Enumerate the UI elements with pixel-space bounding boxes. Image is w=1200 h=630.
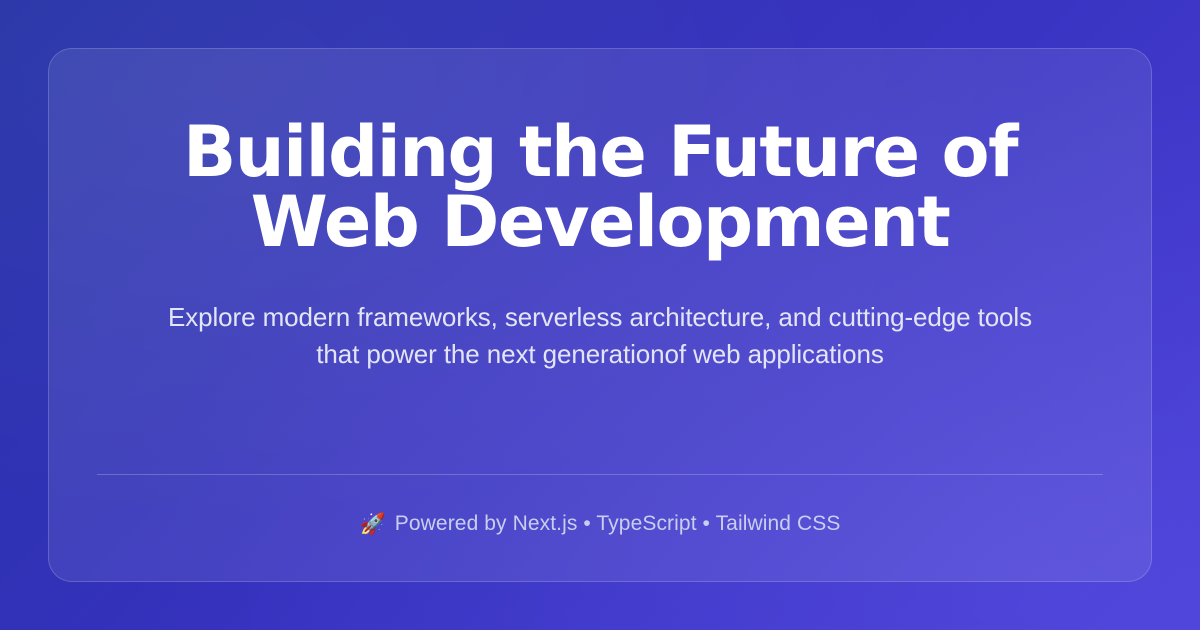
page-subtitle: Explore modern frameworks, serverless ar…	[160, 257, 1040, 373]
page-title: Building the Future of Web Development	[105, 93, 1095, 257]
hero-card: Building the Future of Web Development E…	[48, 48, 1152, 582]
footer-credits: 🚀 Powered by Next.js • TypeScript • Tail…	[105, 475, 1095, 581]
og-image-canvas: Building the Future of Web Development E…	[0, 0, 1200, 630]
footer-credits-label: Powered by Next.js • TypeScript • Tailwi…	[395, 511, 841, 537]
rocket-icon: 🚀	[360, 514, 386, 535]
